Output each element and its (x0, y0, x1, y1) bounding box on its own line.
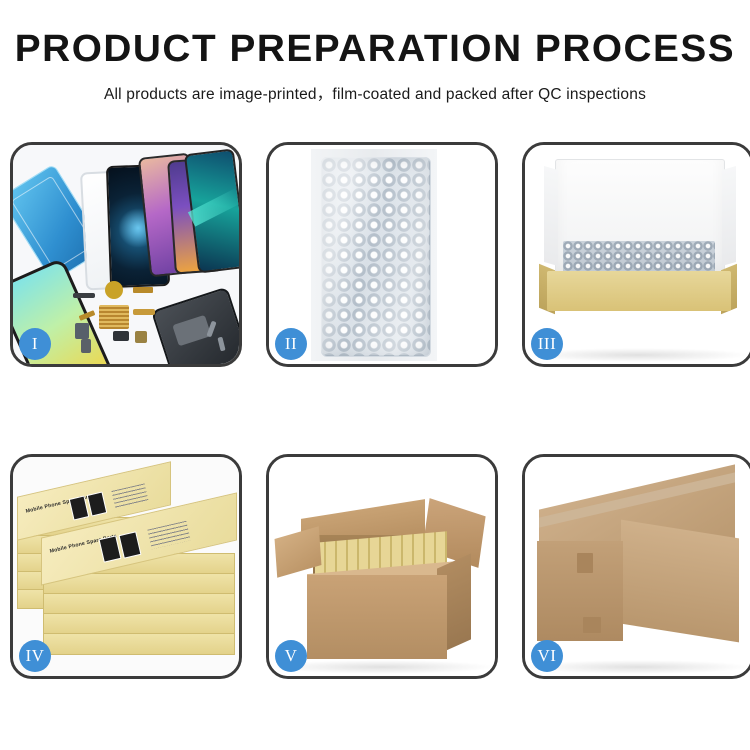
step-5-image (269, 457, 495, 676)
part-sim-tray-icon (81, 339, 91, 353)
box-stack-graphic: Mobile Phone Spare Parts Mobile Phone Sp… (13, 457, 239, 676)
step-1-image (13, 145, 239, 364)
step-badge-6: VI (531, 640, 563, 672)
step-4-image: Mobile Phone Spare Parts Mobile Phone Sp… (13, 457, 239, 676)
stacked-box-edge (43, 613, 235, 635)
part-flex-cable-icon (133, 287, 153, 293)
stacked-box-edge (43, 593, 235, 615)
part-connector-grid-icon (99, 305, 129, 329)
carton-front-face (307, 575, 447, 659)
step-badge-5: V (275, 640, 307, 672)
part-camera-icon (75, 323, 89, 339)
page-title: PRODUCT PREPARATION PROCESS (0, 30, 750, 68)
inner-box-contents-graphic (563, 241, 715, 275)
part-vibrator-icon (135, 331, 147, 343)
step-panel-3: III (522, 142, 750, 367)
step-panel-4: Mobile Phone Spare Parts Mobile Phone Sp… (10, 454, 242, 679)
step-6-image (525, 457, 750, 676)
step-badge-4: IV (19, 640, 51, 672)
page-subtitle: All products are image-printed，film-coat… (0, 82, 750, 104)
sealed-carton-right-face (621, 520, 739, 643)
sealed-carton-handle-notch (577, 553, 593, 573)
bubble-wrap-sheen (321, 157, 429, 355)
header: PRODUCT PREPARATION PROCESS All products… (0, 0, 750, 104)
step-badge-2: II (275, 328, 307, 360)
step-3-image (525, 145, 750, 364)
step-panel-6: VI (522, 454, 750, 679)
part-bracket-icon (73, 293, 95, 298)
part-speaker-icon (105, 281, 123, 299)
inner-box-front-face (547, 271, 731, 311)
step-panel-5: V (266, 454, 498, 679)
phone-back-housing-graphic (151, 287, 239, 364)
product-preparation-infographic: PRODUCT PREPARATION PROCESS All products… (0, 0, 750, 750)
stacked-box-edge (43, 633, 235, 655)
part-chip-icon (133, 309, 155, 315)
sealed-carton-bottom-notch (583, 617, 601, 633)
step-badge-3: III (531, 328, 563, 360)
steps-grid: I II III (10, 142, 740, 679)
step-badge-1: I (19, 328, 51, 360)
step-panel-2: II (266, 142, 498, 367)
step-panel-1: I (10, 142, 242, 367)
step-2-image (269, 145, 495, 364)
part-module-icon (113, 331, 129, 341)
